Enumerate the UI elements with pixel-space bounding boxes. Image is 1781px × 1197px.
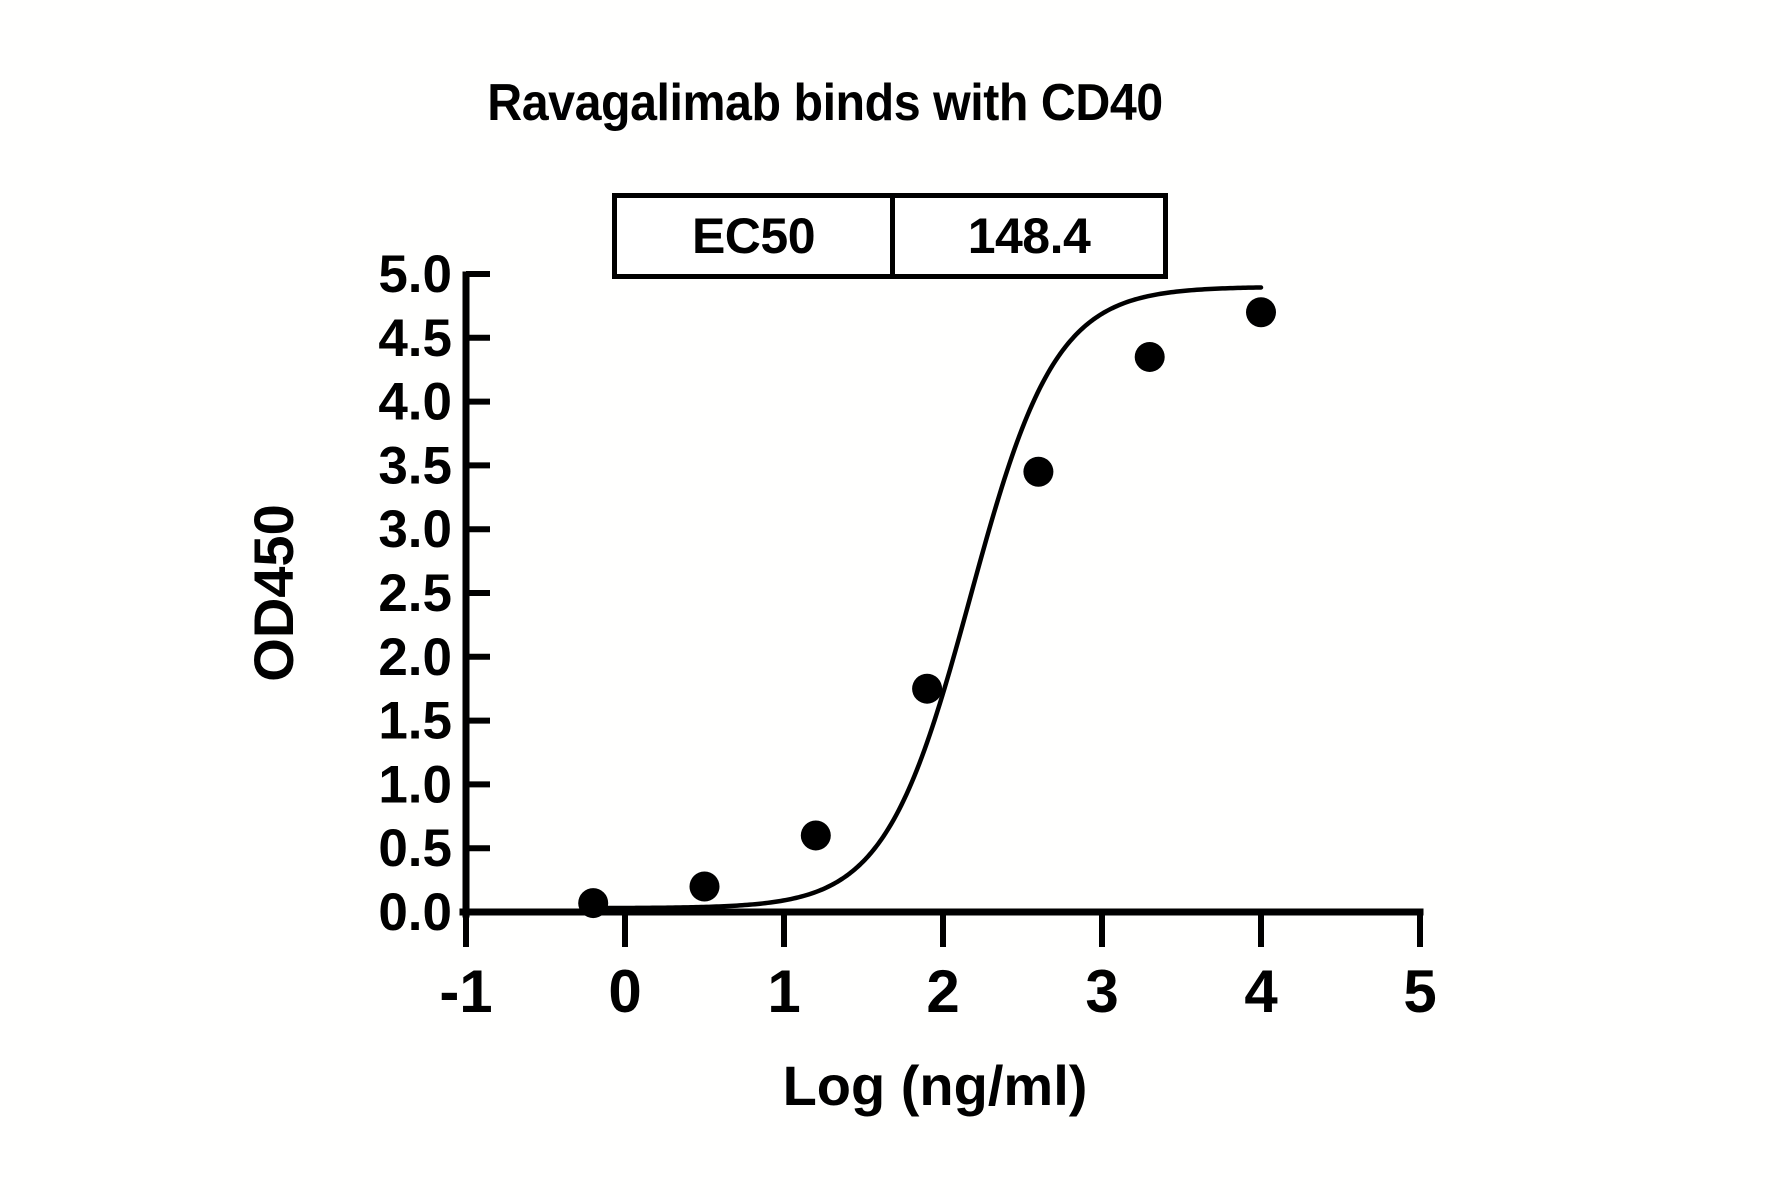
y-tick-marks <box>466 274 490 912</box>
x-tick-labels: -1 0 1 2 3 4 5 <box>439 958 1436 1025</box>
x-tick-label: 5 <box>1403 958 1436 1025</box>
data-point <box>801 820 831 850</box>
data-point <box>1023 457 1053 487</box>
y-tick-label: 2.0 <box>378 628 452 687</box>
y-axis-title: OD450 <box>242 504 305 681</box>
y-tick-label: 4.5 <box>378 309 452 368</box>
y-tick-labels: 0.0 0.5 1.0 1.5 2.0 2.5 3.0 3.5 4.0 4.5 … <box>378 245 452 942</box>
x-axis-title: Log (ng/ml) <box>783 1054 1088 1117</box>
plot-svg: 0.0 0.5 1.0 1.5 2.0 2.5 3.0 3.5 4.0 4.5 … <box>0 0 1781 1197</box>
x-tick-label: -1 <box>439 958 492 1025</box>
plot-area: 0.0 0.5 1.0 1.5 2.0 2.5 3.0 3.5 4.0 4.5 … <box>0 0 1781 1197</box>
data-points <box>578 297 1276 918</box>
data-point <box>912 674 942 704</box>
fit-curve <box>593 287 1261 908</box>
y-tick-label: 3.0 <box>378 500 452 559</box>
y-tick-label: 3.5 <box>378 436 452 495</box>
x-tick-label: 1 <box>767 958 800 1025</box>
data-point <box>690 871 720 901</box>
y-tick-label: 0.5 <box>378 819 452 878</box>
y-tick-label: 0.0 <box>378 883 452 942</box>
data-point <box>578 888 608 918</box>
x-tick-label: 2 <box>926 958 959 1025</box>
chart-figure: Ravagalimab binds with CD40 EC50 148.4 <box>0 0 1781 1197</box>
x-tick-label: 3 <box>1085 958 1118 1025</box>
data-point <box>1246 297 1276 327</box>
y-tick-label: 1.0 <box>378 755 452 814</box>
x-tick-marks <box>466 912 1420 947</box>
y-tick-label: 2.5 <box>378 564 452 623</box>
data-point <box>1135 342 1165 372</box>
x-tick-label: 0 <box>608 958 641 1025</box>
x-tick-label: 4 <box>1244 958 1278 1025</box>
y-tick-label: 4.0 <box>378 373 452 432</box>
y-tick-label: 1.5 <box>378 692 452 751</box>
y-tick-label: 5.0 <box>378 245 452 304</box>
